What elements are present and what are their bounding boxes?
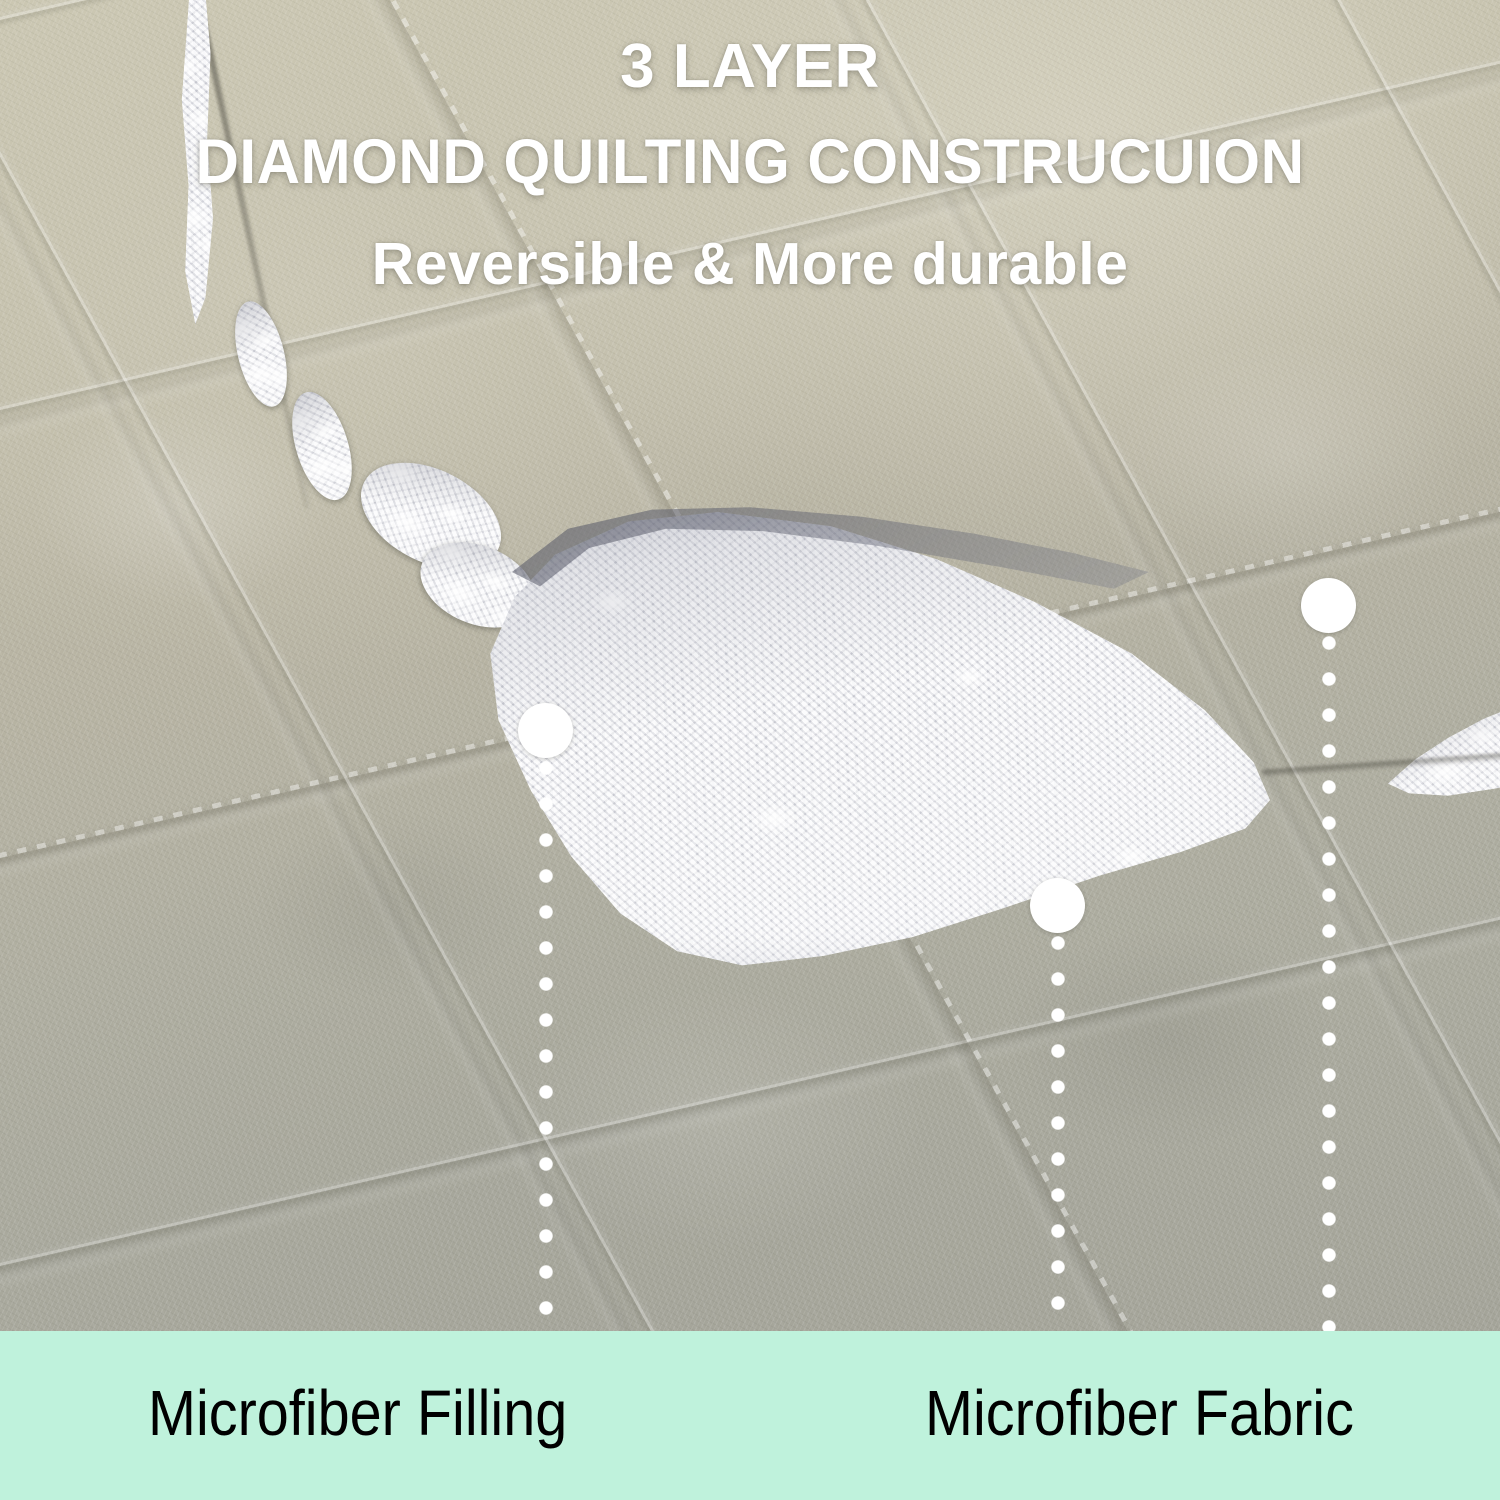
- headline-line-2: DIAMOND QUILTING CONSTRUCUION: [34, 124, 1467, 200]
- legend-banner: Microfiber Filling Microfiber Fabric: [0, 1331, 1500, 1500]
- callout-dot-icon: [518, 703, 573, 758]
- legend-label-microfiber-fabric: Microfiber Fabric: [925, 1378, 1354, 1448]
- callout-dot-icon: [1301, 578, 1356, 633]
- callout-microfiber-fabric: [1030, 878, 1085, 1331]
- quilted-fabric-photo: 3 LAYER DIAMOND QUILTING CONSTRUCUION Re…: [0, 0, 1500, 1331]
- callout-dotted-line: [539, 761, 553, 1331]
- callout-dotted-line: [1322, 636, 1336, 1331]
- callout-dotted-line: [1051, 936, 1065, 1331]
- headline-line-3: Reversible & More durable: [0, 228, 1500, 300]
- callout-microfiber-filling: [518, 703, 573, 1331]
- headline-line-1: 3 LAYER: [0, 30, 1500, 104]
- product-infographic: 3 LAYER DIAMOND QUILTING CONSTRUCUION Re…: [0, 0, 1500, 1500]
- callout-dot-icon: [1030, 878, 1085, 933]
- legend-label-microfiber-filling: Microfiber Filling: [148, 1378, 567, 1448]
- callout-microfiber-fabric-right: [1301, 578, 1356, 1331]
